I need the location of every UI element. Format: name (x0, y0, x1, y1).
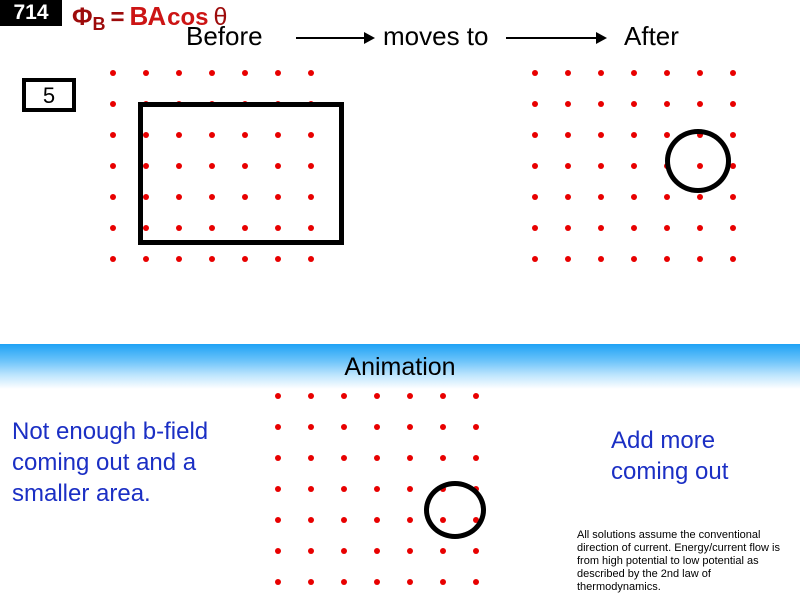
field-dot (473, 424, 479, 430)
field-dot (374, 579, 380, 585)
field-dot (473, 548, 479, 554)
field-dot (275, 256, 281, 262)
before-label: Before (186, 21, 263, 51)
field-dot (565, 70, 571, 76)
field-dot (440, 424, 446, 430)
field-dot (110, 101, 116, 107)
field-dot (697, 194, 703, 200)
field-dot (308, 548, 314, 554)
right-arrow-icon (296, 32, 376, 44)
field-dot (565, 132, 571, 138)
field-dot (407, 393, 413, 399)
field-dot (598, 70, 604, 76)
formula-magnitude: BA (130, 1, 166, 31)
formula-phi-subscript: B (93, 14, 106, 34)
field-dot (407, 486, 413, 492)
field-dot (532, 163, 538, 169)
field-dot (565, 256, 571, 262)
field-dot (697, 225, 703, 231)
field-dot (374, 455, 380, 461)
field-dot (664, 194, 670, 200)
field-dot (730, 256, 736, 262)
wire-loop-circle-animation (424, 481, 486, 539)
field-dot (565, 225, 571, 231)
field-dot (598, 225, 604, 231)
formula-phi-symbol: Φ (72, 3, 93, 31)
field-dot (440, 393, 446, 399)
field-dot (308, 424, 314, 430)
field-dot (598, 101, 604, 107)
field-dot (730, 225, 736, 231)
field-dot (110, 225, 116, 231)
arrow-head (364, 32, 375, 44)
field-dot (341, 455, 347, 461)
field-dot (664, 132, 670, 138)
field-dot (209, 70, 215, 76)
field-dot (631, 132, 637, 138)
field-dot (598, 256, 604, 262)
field-dot (143, 70, 149, 76)
field-dot (308, 455, 314, 461)
field-dot (730, 163, 736, 169)
field-dot (664, 256, 670, 262)
field-dot (407, 424, 413, 430)
field-dot (598, 194, 604, 200)
field-dot (308, 517, 314, 523)
caption-left: Not enough b-field coming out and a smal… (12, 416, 274, 509)
field-dot (664, 225, 670, 231)
field-dot (275, 517, 281, 523)
moves-to-label: moves to (383, 21, 489, 51)
field-dot (697, 256, 703, 262)
field-dot (440, 455, 446, 461)
field-dot (374, 517, 380, 523)
field-dot (532, 225, 538, 231)
field-dot (565, 194, 571, 200)
field-dot (110, 194, 116, 200)
field-dot (697, 101, 703, 107)
field-dot (730, 70, 736, 76)
field-dot (631, 225, 637, 231)
animation-title: Animation (0, 352, 800, 382)
field-dot (176, 256, 182, 262)
field-dot (374, 424, 380, 430)
field-dot (275, 579, 281, 585)
field-dot (176, 70, 182, 76)
field-dot (242, 70, 248, 76)
field-dot (664, 70, 670, 76)
field-dot (110, 163, 116, 169)
field-dot (110, 132, 116, 138)
field-dot (275, 455, 281, 461)
field-dot (565, 163, 571, 169)
field-dot (275, 548, 281, 554)
field-dot (473, 455, 479, 461)
field-dot (242, 256, 248, 262)
field-dot (565, 101, 571, 107)
field-dot (440, 579, 446, 585)
wire-loop-circle-after (665, 129, 731, 193)
field-dot (532, 101, 538, 107)
field-dot (374, 486, 380, 492)
field-dot (341, 486, 347, 492)
field-dot (110, 70, 116, 76)
field-dot (275, 70, 281, 76)
step-number-box: 5 (22, 78, 76, 112)
field-dot (532, 132, 538, 138)
field-dot (275, 424, 281, 430)
field-dot (730, 132, 736, 138)
field-dot (473, 393, 479, 399)
field-dot (664, 101, 670, 107)
field-dot (308, 393, 314, 399)
caption-right: Add more coming out (611, 425, 771, 487)
arrow-head (596, 32, 607, 44)
field-dot (407, 579, 413, 585)
field-dot (341, 393, 347, 399)
field-dot (631, 194, 637, 200)
field-dot (308, 70, 314, 76)
field-dot (631, 70, 637, 76)
field-dot (341, 548, 347, 554)
field-dot (275, 486, 281, 492)
field-dot (631, 256, 637, 262)
field-dot (697, 70, 703, 76)
field-dot (374, 393, 380, 399)
field-dot (532, 256, 538, 262)
field-dot (308, 486, 314, 492)
arrow-shaft (506, 37, 598, 39)
slide-number-badge: 714 (0, 0, 62, 26)
field-dot (598, 163, 604, 169)
field-dot (308, 256, 314, 262)
field-dot (341, 424, 347, 430)
field-dot (407, 455, 413, 461)
field-dot (473, 579, 479, 585)
field-dot (440, 548, 446, 554)
field-dot (374, 548, 380, 554)
field-dot (407, 517, 413, 523)
field-dot (730, 194, 736, 200)
footnote-text: All solutions assume the conventional di… (577, 529, 795, 594)
field-dot (308, 579, 314, 585)
after-label: After (624, 21, 679, 51)
arrow-shaft (296, 37, 366, 39)
right-arrow-icon (506, 32, 608, 44)
field-dot (209, 256, 215, 262)
field-dot (631, 101, 637, 107)
field-dot (341, 579, 347, 585)
field-dot (275, 393, 281, 399)
field-dot (730, 101, 736, 107)
slide-canvas: 714 ΦB=BAcosθ Before moves to After 5 An… (0, 0, 800, 600)
field-dot (341, 517, 347, 523)
formula-equals-sign: = (106, 4, 130, 31)
field-dot (532, 70, 538, 76)
wire-loop-rectangle (138, 102, 344, 245)
field-dot (598, 132, 604, 138)
field-dot (532, 194, 538, 200)
field-dot (407, 548, 413, 554)
field-dot (143, 256, 149, 262)
field-dot (631, 163, 637, 169)
field-dot (110, 256, 116, 262)
